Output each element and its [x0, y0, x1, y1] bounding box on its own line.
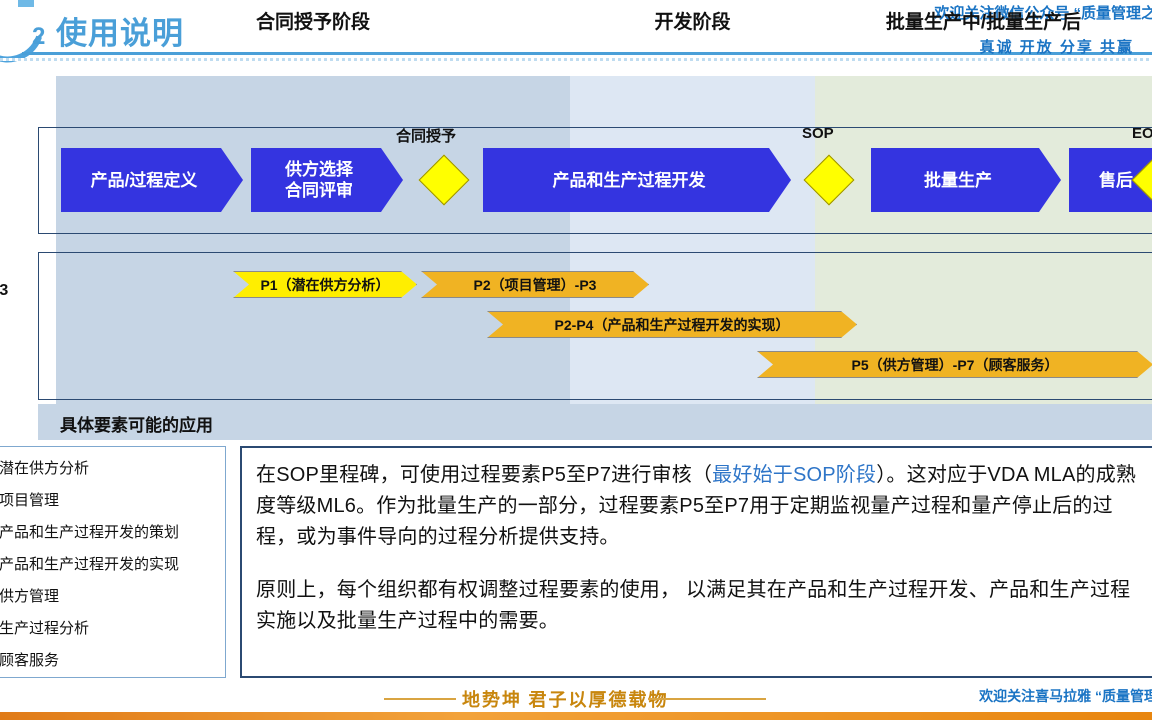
process-bar-label: P2（项目管理）-P3	[464, 275, 607, 295]
milestone-diamond-sop-icon	[804, 155, 855, 206]
lifecycle-row-label: 品周期	[0, 140, 12, 184]
footer-motto: 地势坤 君子以厚德载物	[462, 686, 669, 712]
lifecycle-stage-product-process-development[interactable]: 产品和生产过程开发	[483, 148, 791, 212]
legend-item-p2: 项目管理	[0, 489, 59, 510]
legend-item-p4: 产品和生产过程开发的实现	[0, 553, 179, 574]
footer-rule-right	[648, 698, 766, 700]
process-bar-p2-p3[interactable]: P2（项目管理）-P3	[421, 271, 649, 298]
body-paragraph-1: 在SOP里程碑，可使用过程要素P5至P7进行审核（最好始于SOP阶段）。这对应于…	[256, 460, 1144, 553]
legend-item-p5: 供方管理	[0, 585, 59, 606]
legend-item-p7: 顾客服务	[0, 649, 59, 670]
phase-title-production: 批量生产中/批量生产后	[815, 8, 1152, 38]
lifecycle-row: 产品/过程定义 供方选择合同评审 合同授予 产品和生产过程开发 SOP 批量生产…	[38, 127, 1152, 234]
milestone-label-eop: EO	[1132, 125, 1152, 142]
legend-item-p1: 潜在供方分析	[0, 457, 89, 478]
slide-footer: 地势坤 君子以厚德载物 欢迎关注喜马拉雅 “质量管理	[0, 682, 1152, 720]
milestone-diamond-contract-award-icon	[419, 155, 470, 206]
body-paragraph-2: 原则上，每个组织都有权调整过程要素的使用， 以满足其在产品和生产过程开发、产品和…	[256, 575, 1144, 637]
body-paragraph-1-part-a: 在SOP里程碑，可使用过程要素P5至P7进行审核（	[256, 464, 712, 486]
process-bar-p5-p7[interactable]: P5（供方管理）-P7（顾客服务）	[757, 351, 1152, 378]
process-bar-p1[interactable]: P1（潜在供方分析）	[233, 271, 417, 298]
legend-list: 潜在供方分析 项目管理 产品和生产过程开发的策划 产品和生产过程开发的实现 供方…	[0, 446, 226, 678]
lifecycle-stage-mass-production[interactable]: 批量生产	[871, 148, 1061, 212]
process-elements-row: P1（潜在供方分析） P2（项目管理）-P3 P2-P4（产品和生产过程开发的实…	[38, 252, 1152, 400]
legend-item-p6: 生产过程分析	[0, 617, 89, 638]
swoosh-accent-icon	[18, 0, 34, 7]
body-paragraph-1-highlight: 最好始于SOP阶段	[712, 464, 876, 486]
lifecycle-stage-label: 产品/过程定义	[91, 170, 214, 191]
lifecycle-stage-label: 批量生产	[924, 170, 1008, 191]
milestone-label-contract-award: 合同授予	[396, 125, 456, 146]
process-bar-p2-p4[interactable]: P2-P4（产品和生产过程开发的实现）	[487, 311, 857, 338]
phase-title-development: 开发阶段	[570, 8, 815, 38]
phase-title-contract: 合同授予阶段	[56, 8, 570, 38]
watermark-top-line2: 真诚 开放 分享 共赢	[979, 36, 1134, 57]
elements-caption-label: 具体要素可能的应用	[60, 411, 213, 436]
process-bar-label: P2-P4（产品和生产过程开发的实现）	[545, 315, 800, 335]
legend-item-p3: 产品和生产过程开发的策划	[0, 521, 179, 542]
elements-row-label: 6.3	[0, 282, 38, 300]
process-bar-label: P5（供方管理）-P7（顾客服务）	[842, 355, 1069, 375]
watermark-bottom: 欢迎关注喜马拉雅 “质量管理	[979, 686, 1152, 706]
elements-caption-band: 具体要素可能的应用	[38, 404, 1152, 440]
lifecycle-stage-label: 供方选择合同评审	[285, 159, 369, 201]
footer-orange-bar	[0, 712, 1152, 720]
process-bar-label: P1（潜在供方分析）	[250, 275, 399, 295]
slide-root: 2 使用说明 欢迎关注微信公众号 “质量管理之 真诚 开放 分享 共赢 合同授予…	[0, 0, 1152, 720]
header-dotted-rule	[0, 58, 1152, 61]
body-text-panel: 在SOP里程碑，可使用过程要素P5至P7进行审核（最好始于SOP阶段）。这对应于…	[240, 446, 1152, 678]
milestone-label-sop: SOP	[802, 125, 834, 142]
lifecycle-stage-label: 产品和生产过程开发	[553, 170, 722, 191]
lifecycle-stage-product-process-definition[interactable]: 产品/过程定义	[61, 148, 243, 212]
lifecycle-stage-supplier-selection[interactable]: 供方选择合同评审	[251, 148, 403, 212]
page-title-number: 2	[32, 23, 46, 50]
footer-rule-left	[384, 698, 456, 700]
